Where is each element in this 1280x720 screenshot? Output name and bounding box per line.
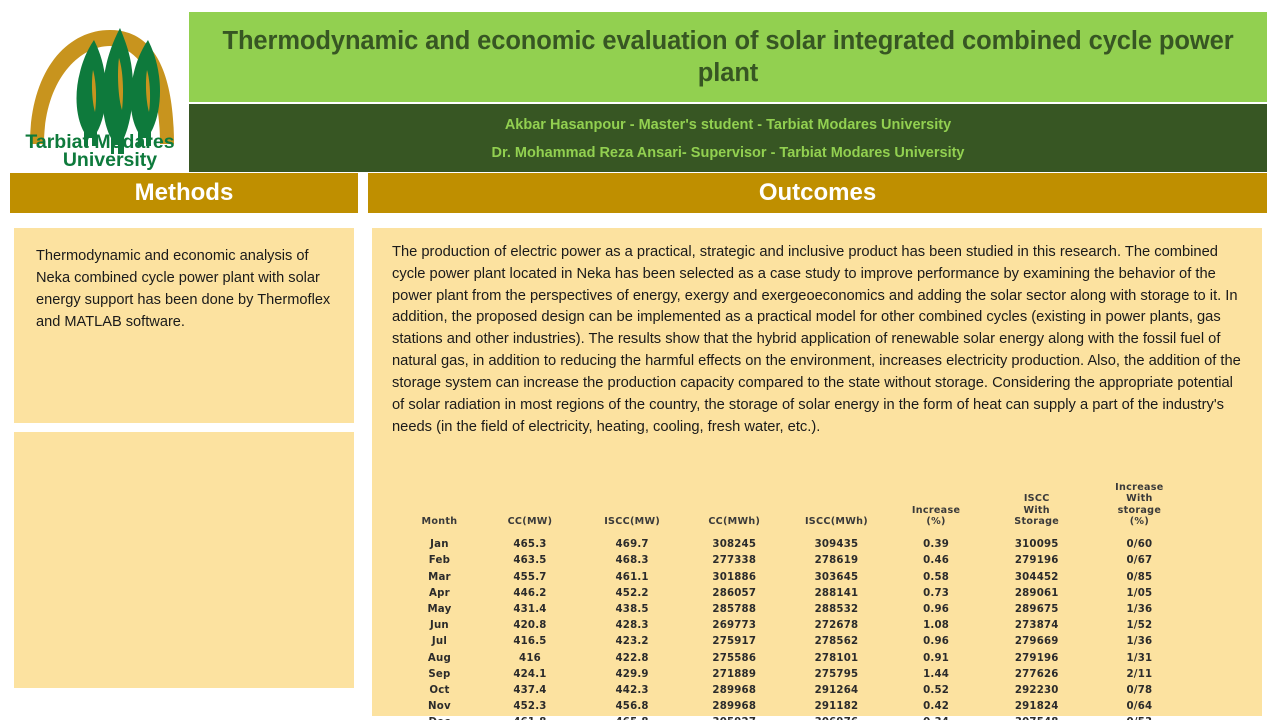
table-cell: 424.1 <box>479 667 581 683</box>
results-table-head: MonthCC(MW)ISCC(MW)CC(MWh)ISCC(MWh)Incre… <box>400 482 1190 537</box>
table-row: Jul416.5423.22759172785620.962796691/36 <box>400 634 1190 650</box>
table-cell: Jul <box>400 634 479 650</box>
table-row: Aug416422.82755862781010.912791961/31 <box>400 651 1190 667</box>
section-header-outcomes: Outcomes <box>368 173 1267 213</box>
table-cell: 277338 <box>683 553 785 569</box>
table-header-row: MonthCC(MW)ISCC(MW)CC(MWh)ISCC(MWh)Incre… <box>400 482 1190 537</box>
table-cell: 269773 <box>683 618 785 634</box>
table-column-header: ISCCWithStorage <box>985 482 1089 537</box>
table-cell: 289061 <box>985 586 1089 602</box>
table-cell: 310095 <box>985 537 1089 553</box>
table-row: Apr446.2452.22860572881410.732890611/05 <box>400 586 1190 602</box>
outcomes-paragraph: The production of electric power as a pr… <box>390 242 1246 438</box>
table-column-header: CC(MW) <box>479 482 581 537</box>
tarbiat-modares-university-logo-icon: Tarbiat Modares University <box>14 6 186 172</box>
table-column-header: Increase(%) <box>888 482 985 537</box>
table-cell: Mar <box>400 570 479 586</box>
table-column-header: ISCC(MW) <box>581 482 683 537</box>
table-cell: 469.7 <box>581 537 683 553</box>
table-cell: 279669 <box>985 634 1089 650</box>
table-cell: 0.46 <box>888 553 985 569</box>
table-row: Jun420.8428.32697732726781.082738741/52 <box>400 618 1190 634</box>
table-cell: 0/85 <box>1089 570 1190 586</box>
table-cell: 0/64 <box>1089 699 1190 715</box>
table-cell: 289968 <box>683 699 785 715</box>
table-cell: May <box>400 602 479 618</box>
table-cell: Feb <box>400 553 479 569</box>
table-cell: 275586 <box>683 651 785 667</box>
table-cell: 1.08 <box>888 618 985 634</box>
table-row: Sep424.1429.92718892757951.442776262/11 <box>400 667 1190 683</box>
table-cell: 279196 <box>985 553 1089 569</box>
table-cell: 0.73 <box>888 586 985 602</box>
authors-banner: Akbar Hasanpour - Master's student - Tar… <box>189 104 1267 172</box>
methods-paragraph: Thermodynamic and economic analysis of N… <box>36 246 338 334</box>
table-row: Feb463.5468.32773382786190.462791960/67 <box>400 553 1190 569</box>
table-cell: 452.2 <box>581 586 683 602</box>
table-cell: Nov <box>400 699 479 715</box>
author-supervisor: Dr. Mohammad Reza Ansari- Supervisor - T… <box>492 146 965 161</box>
table-cell: 420.8 <box>479 618 581 634</box>
table-cell: 0/60 <box>1089 537 1190 553</box>
section-header-outcomes-label: Outcomes <box>759 181 876 205</box>
table-cell: 465.3 <box>479 537 581 553</box>
table-column-header: ISCC(MWh) <box>785 482 887 537</box>
table-column-header: Month <box>400 482 479 537</box>
table-row: Nov452.3456.82899682911820.422918240/64 <box>400 699 1190 715</box>
methods-text-panel: Thermodynamic and economic analysis of N… <box>14 228 354 423</box>
table-cell: 304452 <box>985 570 1089 586</box>
table-cell: 422.8 <box>581 651 683 667</box>
table-cell: Aug <box>400 651 479 667</box>
poster-title-banner: Thermodynamic and economic evaluation of… <box>189 12 1267 102</box>
table-cell: 1/31 <box>1089 651 1190 667</box>
table-cell: 461.1 <box>581 570 683 586</box>
table-cell: Dec <box>400 715 479 720</box>
section-header-methods: Methods <box>10 173 358 213</box>
table-cell: 455.7 <box>479 570 581 586</box>
table-cell: 446.2 <box>479 586 581 602</box>
table-cell: 442.3 <box>581 683 683 699</box>
table-cell: Sep <box>400 667 479 683</box>
table-cell: 1/36 <box>1089 634 1190 650</box>
table-cell: 437.4 <box>479 683 581 699</box>
university-logo: Tarbiat Modares University <box>14 6 186 172</box>
table-row: Dec461.8465.83059273069760.343075480/53 <box>400 715 1190 720</box>
table-cell: 286057 <box>683 586 785 602</box>
table-cell: 2/11 <box>1089 667 1190 683</box>
table-column-header: CC(MWh) <box>683 482 785 537</box>
table-cell: 0/78 <box>1089 683 1190 699</box>
table-cell: 0.96 <box>888 634 985 650</box>
table-cell: 277626 <box>985 667 1089 683</box>
table-cell: 1/52 <box>1089 618 1190 634</box>
table-column-header: IncreaseWithstorage(%) <box>1089 482 1190 537</box>
table-cell: 1.44 <box>888 667 985 683</box>
table-cell: 279196 <box>985 651 1089 667</box>
table-cell: 307548 <box>985 715 1089 720</box>
results-table: MonthCC(MW)ISCC(MW)CC(MWh)ISCC(MWh)Incre… <box>400 482 1190 720</box>
table-cell: 456.8 <box>581 699 683 715</box>
logo-line2: University <box>63 149 157 171</box>
table-cell: 0/53 <box>1089 715 1190 720</box>
poster-canvas: Tarbiat Modares University Thermodynamic… <box>0 0 1280 720</box>
table-cell: 309435 <box>785 537 887 553</box>
table-cell: 301886 <box>683 570 785 586</box>
table-cell: 465.8 <box>581 715 683 720</box>
methods-figure-panel: AC G CC Fuel GT DB Fuel <box>14 432 354 688</box>
table-cell: 428.3 <box>581 618 683 634</box>
table-row: May431.4438.52857882885320.962896751/36 <box>400 602 1190 618</box>
table-cell: 431.4 <box>479 602 581 618</box>
table-cell: 291824 <box>985 699 1089 715</box>
table-cell: Jun <box>400 618 479 634</box>
table-cell: 423.2 <box>581 634 683 650</box>
table-cell: 308245 <box>683 537 785 553</box>
table-cell: 306976 <box>785 715 887 720</box>
table-cell: 272678 <box>785 618 887 634</box>
results-table-body: Jan465.3469.73082453094350.393100950/60F… <box>400 537 1190 720</box>
table-cell: 461.8 <box>479 715 581 720</box>
table-cell: 289675 <box>985 602 1089 618</box>
table-cell: 429.9 <box>581 667 683 683</box>
table-cell: 0.52 <box>888 683 985 699</box>
table-cell: 416.5 <box>479 634 581 650</box>
table-cell: 289968 <box>683 683 785 699</box>
table-cell: 288141 <box>785 586 887 602</box>
table-cell: 278101 <box>785 651 887 667</box>
table-cell: 291182 <box>785 699 887 715</box>
table-cell: 278562 <box>785 634 887 650</box>
results-table-container: MonthCC(MW)ISCC(MW)CC(MWh)ISCC(MWh)Incre… <box>400 482 1190 720</box>
table-cell: 0.96 <box>888 602 985 618</box>
table-cell: 0.34 <box>888 715 985 720</box>
table-cell: 0.39 <box>888 537 985 553</box>
table-cell: Apr <box>400 586 479 602</box>
table-cell: 0.58 <box>888 570 985 586</box>
table-cell: 1/36 <box>1089 602 1190 618</box>
table-row: Jan465.3469.73082453094350.393100950/60 <box>400 537 1190 553</box>
table-cell: 1/05 <box>1089 586 1190 602</box>
table-cell: 288532 <box>785 602 887 618</box>
section-header-methods-label: Methods <box>135 181 234 205</box>
table-cell: 305927 <box>683 715 785 720</box>
table-cell: 468.3 <box>581 553 683 569</box>
table-cell: 303645 <box>785 570 887 586</box>
table-cell: 278619 <box>785 553 887 569</box>
table-cell: Oct <box>400 683 479 699</box>
table-cell: 285788 <box>683 602 785 618</box>
page-title: Thermodynamic and economic evaluation of… <box>215 25 1241 89</box>
table-cell: Jan <box>400 537 479 553</box>
table-row: Mar455.7461.13018863036450.583044520/85 <box>400 570 1190 586</box>
table-cell: 273874 <box>985 618 1089 634</box>
table-cell: 416 <box>479 651 581 667</box>
table-cell: 452.3 <box>479 699 581 715</box>
table-cell: 0.91 <box>888 651 985 667</box>
table-row: Oct437.4442.32899682912640.522922300/78 <box>400 683 1190 699</box>
table-cell: 0.42 <box>888 699 985 715</box>
table-cell: 463.5 <box>479 553 581 569</box>
author-primary: Akbar Hasanpour - Master's student - Tar… <box>505 118 951 133</box>
table-cell: 291264 <box>785 683 887 699</box>
table-cell: 275917 <box>683 634 785 650</box>
table-cell: 0/67 <box>1089 553 1190 569</box>
table-cell: 438.5 <box>581 602 683 618</box>
table-cell: 275795 <box>785 667 887 683</box>
table-cell: 271889 <box>683 667 785 683</box>
table-cell: 292230 <box>985 683 1089 699</box>
